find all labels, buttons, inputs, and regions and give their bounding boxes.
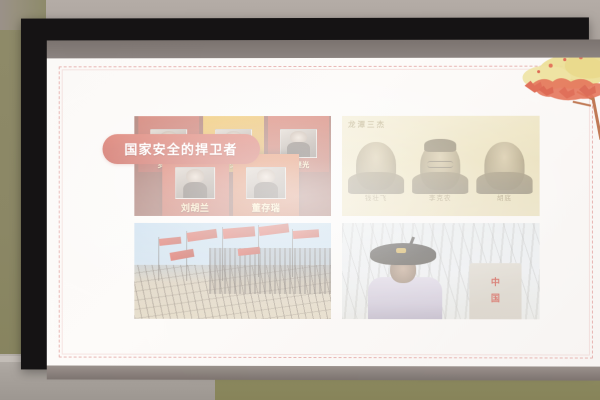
portrait (420, 142, 460, 190)
hero-likenong: 李克农 (420, 142, 460, 202)
glasses-icon (427, 161, 453, 168)
classroom-scene: 罗盛教 邱少云 黄继光 刘胡兰 (0, 0, 600, 400)
photo-border-guard-snow[interactable]: 中 国 (342, 223, 540, 319)
projector-screen-surface: 罗盛教 邱少云 黄继光 刘胡兰 (47, 39, 600, 380)
crowd (209, 248, 331, 294)
heroes-title: 龙潭三杰 (348, 119, 386, 130)
photo-longtan-three-heroes[interactable]: 龙潭三杰 钱壮飞 李克农 胡底 (342, 116, 540, 216)
photo-red-flags-construction[interactable] (134, 223, 331, 319)
portrait (484, 142, 524, 190)
portrait (356, 142, 396, 190)
slide-title-banner: 国家安全的捍卫者 (102, 134, 259, 164)
screen-bottom-edge (47, 365, 600, 380)
book-title: 刘胡兰 (181, 201, 209, 214)
fur-hat-icon (370, 243, 436, 265)
winter-coat (368, 277, 442, 319)
hero-qianzhuangfei: 钱壮飞 (356, 142, 396, 202)
photo-book-covers[interactable]: 罗盛教 邱少云 黄继光 刘胡兰 (134, 116, 331, 216)
portrait (175, 167, 215, 199)
cap-badge-icon (396, 248, 406, 253)
book-title: 董存瑞 (252, 201, 280, 214)
screen-top-edge (47, 39, 600, 58)
portrait (246, 167, 286, 199)
marker-character-zhong: 中 (491, 275, 500, 288)
military-cap-icon (424, 139, 456, 152)
boundary-marker-stone: 中 国 (469, 263, 521, 319)
border-guard-soldier (368, 241, 442, 319)
projector-screen-frame: 罗盛教 邱少云 黄继光 刘胡兰 (21, 17, 589, 370)
presentation-slide: 罗盛教 邱少云 黄继光 刘胡兰 (47, 58, 600, 367)
marker-character-guo: 国 (491, 291, 500, 304)
hero-hudi: 胡底 (484, 142, 524, 202)
